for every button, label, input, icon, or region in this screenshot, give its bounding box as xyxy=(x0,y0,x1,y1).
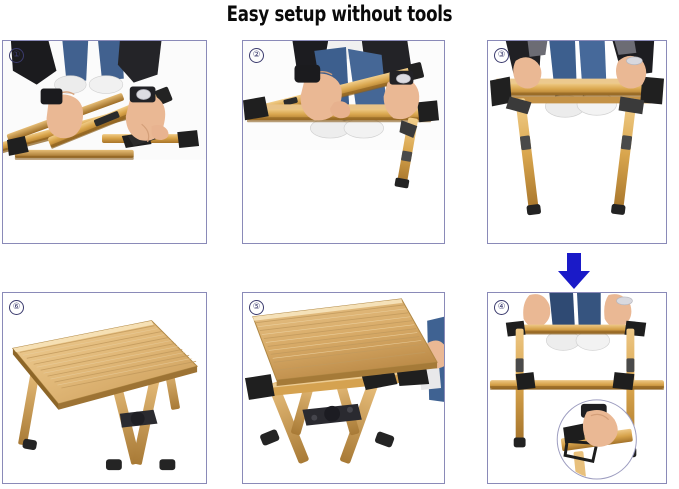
step-badge: ④ xyxy=(494,300,509,315)
down-arrow-icon xyxy=(556,252,592,290)
step-badge: ② xyxy=(249,48,264,63)
panel-step-5: ⑤ xyxy=(242,292,445,484)
step-badge: ⑤ xyxy=(249,300,264,315)
panel-step-3: ③ xyxy=(487,40,667,244)
photo-step-4 xyxy=(488,293,666,483)
step-badge: ① xyxy=(9,48,24,63)
page-title: Easy setup without tools xyxy=(41,2,639,26)
step-badge: ⑥ xyxy=(9,300,24,315)
photo-step-1 xyxy=(3,41,206,243)
panel-step-6: ⑥ xyxy=(2,292,207,484)
step-badge: ③ xyxy=(494,48,509,63)
photo-step-5 xyxy=(243,293,444,483)
panel-step-2: ② xyxy=(242,40,445,244)
photo-step-2 xyxy=(243,41,444,243)
panel-step-4: ④ xyxy=(487,292,667,484)
photo-step-6 xyxy=(3,293,206,483)
panel-step-1: ① xyxy=(2,40,207,244)
photo-step-3 xyxy=(488,41,666,243)
